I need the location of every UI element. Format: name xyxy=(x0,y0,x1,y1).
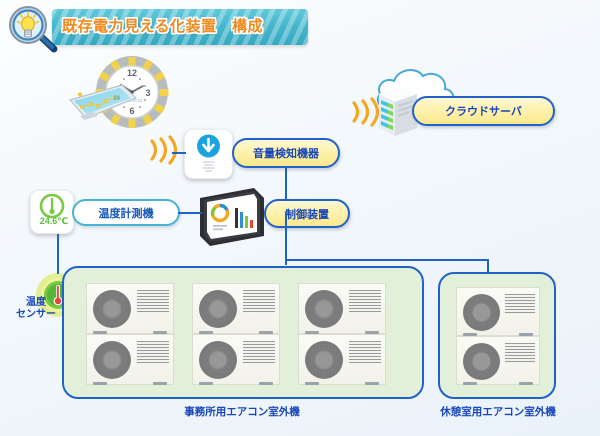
ac-fan-icon xyxy=(199,290,237,328)
temperature-sensor-label-line1: 温度 xyxy=(26,297,46,308)
ac-unit[interactable] xyxy=(456,287,540,336)
ac-louver xyxy=(243,290,275,312)
node-sound-sensor[interactable]: 音量検知機器 xyxy=(232,138,340,168)
temperature-sensor-label: 温度 センサー xyxy=(4,297,68,321)
ac-foot xyxy=(463,382,477,385)
wifi-arcs-icon xyxy=(146,133,188,167)
ac-grid-breakroom xyxy=(456,287,540,385)
ac-foot xyxy=(199,382,213,385)
ac-unit[interactable] xyxy=(298,334,386,385)
ac-fan-icon xyxy=(463,343,500,380)
ac-fan-icon xyxy=(199,341,237,379)
ac-fan-icon xyxy=(93,341,131,379)
ac-louver xyxy=(505,294,535,315)
thermometer-card[interactable] xyxy=(30,190,74,234)
ac-unit[interactable] xyxy=(192,283,280,334)
node-controller[interactable]: 制御装置 xyxy=(264,199,350,228)
ac-unit[interactable] xyxy=(456,336,540,385)
ac-louver xyxy=(349,290,381,312)
node-controller-label: 制御装置 xyxy=(285,206,329,222)
ac-unit[interactable] xyxy=(86,334,174,385)
ac-foot xyxy=(365,382,379,385)
sound-sensor-card[interactable] xyxy=(184,129,233,179)
svg-text:24: 24 xyxy=(113,96,120,102)
temperature-sensor-label-line2: センサー xyxy=(16,309,56,320)
ac-unit[interactable] xyxy=(86,283,174,334)
ac-unit[interactable] xyxy=(298,283,386,334)
ac-louver xyxy=(349,341,381,363)
ac-fan-icon xyxy=(463,294,500,331)
ac-grid-office xyxy=(86,283,404,385)
wire-down-left-group xyxy=(285,259,287,265)
magnifier-bulb-icon xyxy=(6,4,60,54)
node-cloud-server[interactable]: クラウドサーバ xyxy=(412,96,555,126)
ac-fan-icon xyxy=(305,290,343,328)
ac-fan-icon xyxy=(305,341,343,379)
wire-sensor-up xyxy=(57,234,59,274)
ac-louver xyxy=(243,341,275,363)
ac-louver xyxy=(137,341,169,363)
ac-foot xyxy=(519,382,533,385)
ac-unit[interactable] xyxy=(192,334,280,385)
thermometer-reading: 24.6℃ xyxy=(37,216,71,227)
ac-group-breakroom-label: 休憩室用エアコン室外機 xyxy=(418,404,578,419)
ac-louver xyxy=(137,290,169,312)
tablet-dashboard-icon xyxy=(196,186,268,248)
svg-text:12: 12 xyxy=(127,68,137,78)
wire-thermometer-tablet xyxy=(178,212,202,214)
ac-foot xyxy=(305,382,319,385)
page-title: 既存電力見える化装置 構成 xyxy=(62,15,312,36)
wire-controller-to-right xyxy=(285,259,489,261)
ac-foot xyxy=(153,382,167,385)
diagram-canvas: 既存電力見える化装置 構成 xyxy=(0,0,600,436)
ac-foot xyxy=(259,382,273,385)
wire-down-right-group xyxy=(487,259,489,273)
wire-controller-bus xyxy=(285,212,287,260)
ac-fan-icon xyxy=(93,290,131,328)
wire-soundsensor-down xyxy=(285,167,287,201)
ac-foot xyxy=(93,382,107,385)
svg-text:3: 3 xyxy=(145,88,150,98)
wire-soundsensor-card xyxy=(172,152,186,154)
ac-louver xyxy=(505,343,535,364)
ac-group-office-label: 事務所用エアコン室外機 xyxy=(92,404,392,419)
svg-text:6: 6 xyxy=(129,106,134,116)
node-sound-sensor-label: 音量検知機器 xyxy=(253,145,319,161)
node-thermometer[interactable]: 温度計測機 xyxy=(72,199,180,226)
node-thermometer-label: 温度計測機 xyxy=(99,205,154,221)
node-cloud-server-label: クラウドサーバ xyxy=(445,103,522,119)
